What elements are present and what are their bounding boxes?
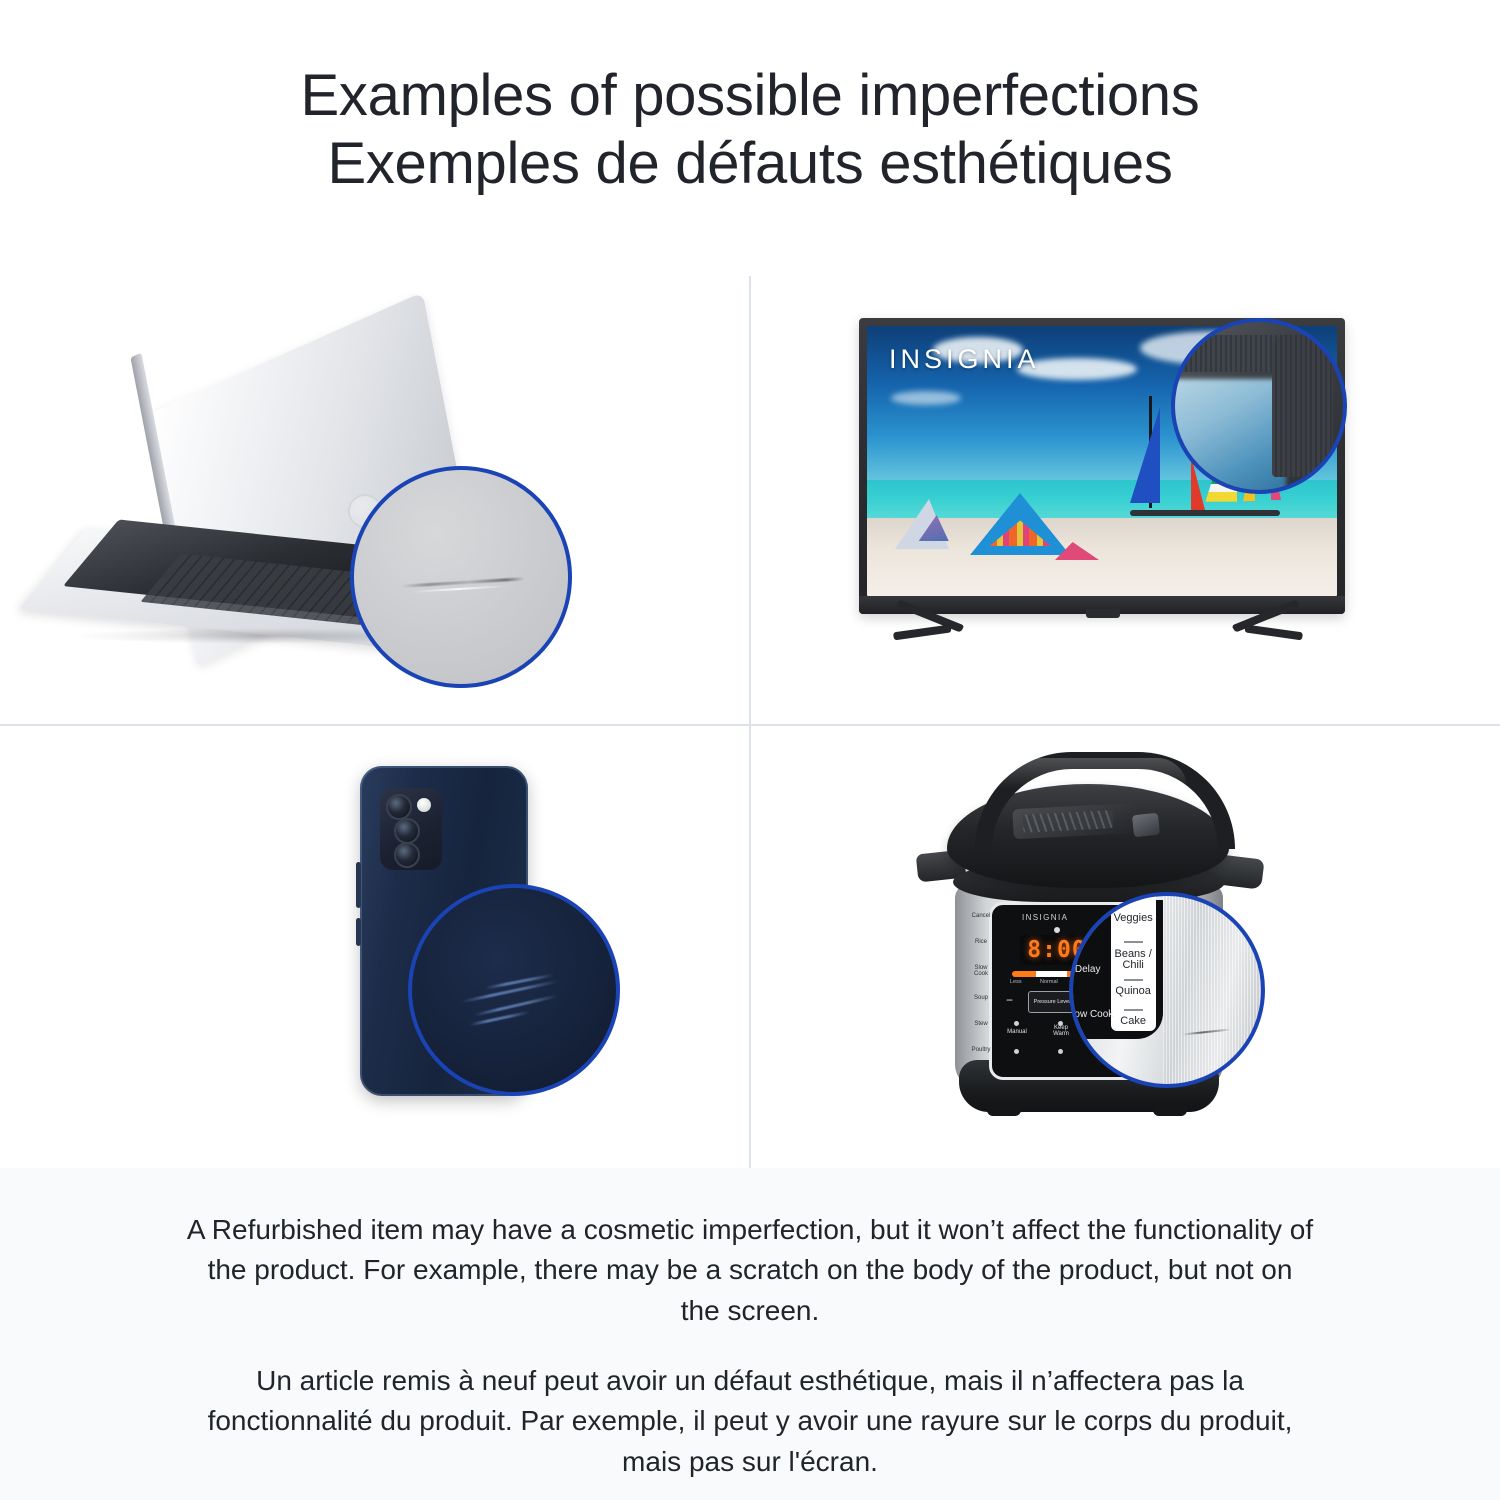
footer-paragraph-french: Un article remis à neuf peut avoir un dé… bbox=[185, 1361, 1315, 1482]
panel-laptop bbox=[0, 276, 749, 724]
cooker-brand-label: INSIGNIA bbox=[1022, 913, 1068, 922]
cooker-button-led bbox=[1014, 1021, 1019, 1026]
tv-magnified-corner-bezel bbox=[1272, 335, 1332, 476]
cooker-magnified-brushed-steel bbox=[1163, 896, 1261, 1084]
phone-camera-module bbox=[380, 788, 442, 870]
tv-magnifier-circle bbox=[1171, 318, 1347, 494]
tv-scene-hull bbox=[1130, 510, 1280, 516]
tv-brand-label: INSIGNIA bbox=[889, 344, 1040, 375]
title-line-english: Examples of possible imperfections bbox=[0, 62, 1500, 130]
panel-smartphone bbox=[0, 726, 749, 1174]
cooker-status-led bbox=[1054, 927, 1060, 933]
camera-flash-icon bbox=[417, 798, 431, 812]
cooker-button-led bbox=[1058, 1049, 1063, 1054]
panel-television: INSIGNIA bbox=[751, 276, 1500, 724]
cooker-magnified-delay-label: Delay bbox=[1075, 964, 1101, 975]
cooker-magnified-quinoa-label: Quinoa bbox=[1111, 986, 1156, 998]
cooker-slider-label-less: Less bbox=[1010, 979, 1022, 985]
tv-magnified-screen-area bbox=[1171, 379, 1286, 494]
cooker-magnified-veggies-label: Veggies bbox=[1111, 913, 1156, 925]
phone-power-button bbox=[356, 918, 361, 946]
television-illustration: INSIGNIA bbox=[859, 318, 1359, 688]
footer-description: A Refurbished item may have a cosmetic i… bbox=[0, 1168, 1500, 1500]
cooker-manual-button[interactable]: Manual bbox=[1004, 1029, 1030, 1035]
cooker-keep-warm-button[interactable]: Keep Warm bbox=[1046, 1025, 1076, 1037]
camera-lens-icon bbox=[394, 818, 420, 844]
pressure-cooker-illustration: INSIGNIA 8:00 Less Normal More − Pressur… bbox=[901, 744, 1321, 1144]
camera-lens-icon bbox=[386, 794, 412, 820]
cooker-magnified-separator bbox=[1124, 941, 1143, 943]
cooker-poultry-button[interactable]: Poultry bbox=[970, 1047, 992, 1053]
tv-leg-right-inner bbox=[1244, 624, 1303, 640]
panel-pressure-cooker: INSIGNIA 8:00 Less Normal More − Pressur… bbox=[751, 726, 1500, 1174]
cooker-soup-button[interactable]: Soup bbox=[970, 995, 992, 1001]
cooker-stew-button[interactable]: Stew bbox=[970, 1021, 992, 1027]
footer-paragraph-english: A Refurbished item may have a cosmetic i… bbox=[185, 1210, 1315, 1331]
tv-scene-tent-white bbox=[895, 499, 949, 549]
phone-volume-button bbox=[356, 862, 361, 908]
tv-ir-receiver bbox=[1086, 609, 1120, 618]
cooker-slider-label-normal: Normal bbox=[1040, 979, 1058, 985]
cooker-rice-button[interactable]: Rice bbox=[970, 939, 992, 945]
cooker-magnified-separator bbox=[1124, 1009, 1143, 1011]
cooker-foot bbox=[1153, 1106, 1187, 1116]
camera-lens-icon bbox=[394, 842, 420, 868]
cooker-magnified-separator bbox=[1124, 979, 1143, 981]
cooker-button-led bbox=[1014, 1049, 1019, 1054]
cooker-cancel-button[interactable]: Cancel bbox=[970, 913, 992, 919]
laptop-illustration bbox=[30, 346, 590, 676]
tv-leg-left-inner bbox=[893, 624, 952, 640]
cooker-left-button-column: Cancel Rice Slow Cook Soup Stew Poultry bbox=[970, 913, 992, 1071]
laptop-magnifier-circle bbox=[350, 466, 572, 688]
cooker-magnified-cake-label: Cake bbox=[1111, 1016, 1156, 1028]
phone-magnifier-circle bbox=[408, 884, 620, 1096]
cooker-handle-highlight bbox=[989, 758, 1187, 788]
cooker-foot bbox=[987, 1106, 1021, 1116]
cooker-magnified-beans-chili-label: Beans / Chili bbox=[1111, 949, 1156, 972]
tv-scene-sail-blue bbox=[1130, 407, 1160, 503]
cooker-decrease-button[interactable]: − bbox=[1006, 993, 1013, 1007]
cooker-slow-cook-button[interactable]: Slow Cook bbox=[970, 965, 992, 977]
smartphone-illustration bbox=[330, 766, 630, 1136]
product-examples-grid: INSIGNIA bbox=[0, 276, 1500, 1168]
page-title: Examples of possible imperfections Exemp… bbox=[0, 0, 1500, 198]
tv-scene-cloud bbox=[891, 391, 961, 405]
cooker-magnifier-circle: Veggies Beans / Chili Quinoa Cake Delay … bbox=[1069, 892, 1265, 1088]
cooker-magnified-slow-cook-label: Slow Cook bbox=[1069, 1009, 1113, 1020]
title-line-french: Exemples de défauts esthétiques bbox=[0, 130, 1500, 198]
